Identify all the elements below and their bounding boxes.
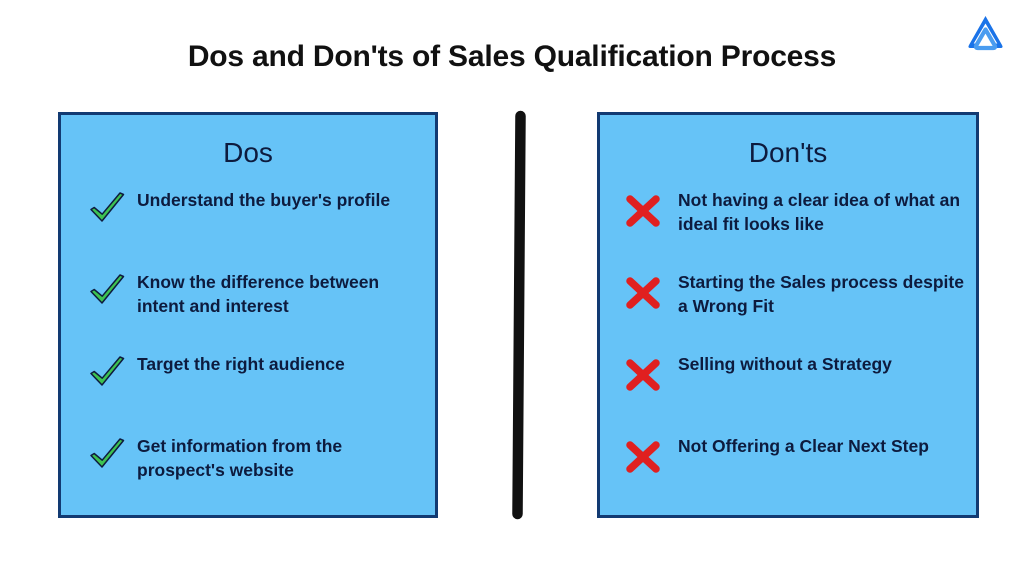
red-cross-icon: [616, 347, 670, 403]
green-check-icon: [81, 427, 133, 483]
green-check-icon: [81, 345, 133, 401]
red-cross-icon: [616, 265, 670, 321]
red-cross-icon: [616, 183, 670, 239]
list-item: Selling without a Strategy: [600, 347, 976, 429]
list-item: Know the difference between intent and i…: [61, 265, 435, 347]
list-item-label: Get information from the prospect's webs…: [133, 429, 421, 482]
list-item: Target the right audience: [61, 347, 435, 429]
list-item: Not having a clear idea of what an ideal…: [600, 183, 976, 265]
vertical-divider-bar: [508, 110, 530, 520]
dos-item-list: Understand the buyer's profile Know the …: [61, 183, 435, 511]
list-item-label: Know the difference between intent and i…: [133, 265, 421, 318]
dos-panel: Dos Understand the buyer's profile Know …: [58, 112, 438, 518]
list-item: Get information from the prospect's webs…: [61, 429, 435, 511]
list-item-label: Starting the Sales process despite a Wro…: [670, 265, 966, 318]
green-check-icon: [81, 181, 133, 237]
red-cross-icon: [616, 429, 670, 485]
donts-panel-heading: Don'ts: [600, 137, 976, 169]
list-item: Understand the buyer's profile: [61, 183, 435, 265]
green-check-icon: [81, 263, 133, 319]
donts-item-list: Not having a clear idea of what an ideal…: [600, 183, 976, 511]
list-item-label: Target the right audience: [133, 347, 421, 377]
list-item-label: Not having a clear idea of what an ideal…: [670, 183, 966, 236]
list-item-label: Selling without a Strategy: [670, 347, 966, 377]
page-title: Dos and Don'ts of Sales Qualification Pr…: [0, 40, 1024, 74]
dos-panel-heading: Dos: [61, 137, 435, 169]
list-item-label: Not Offering a Clear Next Step: [670, 429, 966, 459]
list-item-label: Understand the buyer's profile: [133, 183, 421, 213]
list-item: Not Offering a Clear Next Step: [600, 429, 976, 511]
donts-panel: Don'ts Not having a clear idea of what a…: [597, 112, 979, 518]
list-item: Starting the Sales process despite a Wro…: [600, 265, 976, 347]
